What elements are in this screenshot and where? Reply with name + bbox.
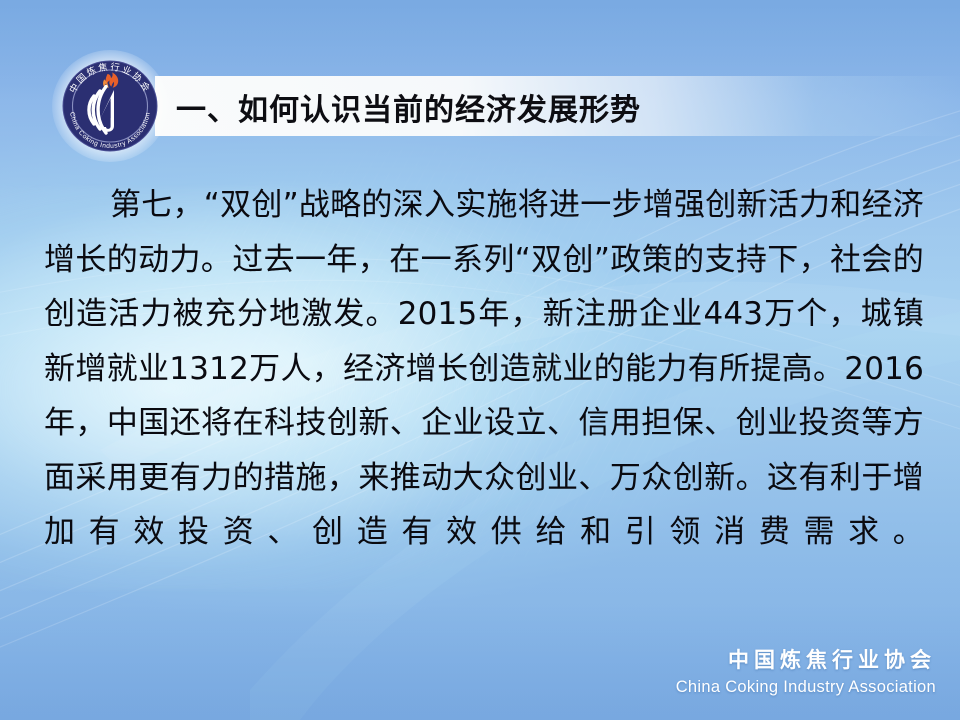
association-logo: 中国炼焦行业协会 China Coking Industry Associati… bbox=[52, 50, 168, 162]
presentation-slide: 一、如何认识当前的经济发展形势 中国炼焦行业协会 China Coking In… bbox=[0, 0, 960, 720]
slide-body-text: 第七，“双创”战略的深入实施将进一步增强创新活力和经济增长的动力。过去一年，在一… bbox=[44, 178, 924, 614]
logo-emblem-icon: 中国炼焦行业协会 China Coking Industry Associati… bbox=[54, 52, 166, 160]
page-title: 一、如何认识当前的经济发展形势 bbox=[176, 80, 641, 134]
body-paragraph: 第七，“双创”战略的深入实施将进一步增强创新活力和经济增长的动力。过去一年，在一… bbox=[44, 178, 924, 614]
footer-branding: 中国炼焦行业协会 China Coking Industry Associati… bbox=[676, 647, 936, 698]
footer-name-cn: 中国炼焦行业协会 bbox=[676, 647, 936, 673]
footer-name-en: China Coking Industry Association bbox=[676, 676, 936, 698]
